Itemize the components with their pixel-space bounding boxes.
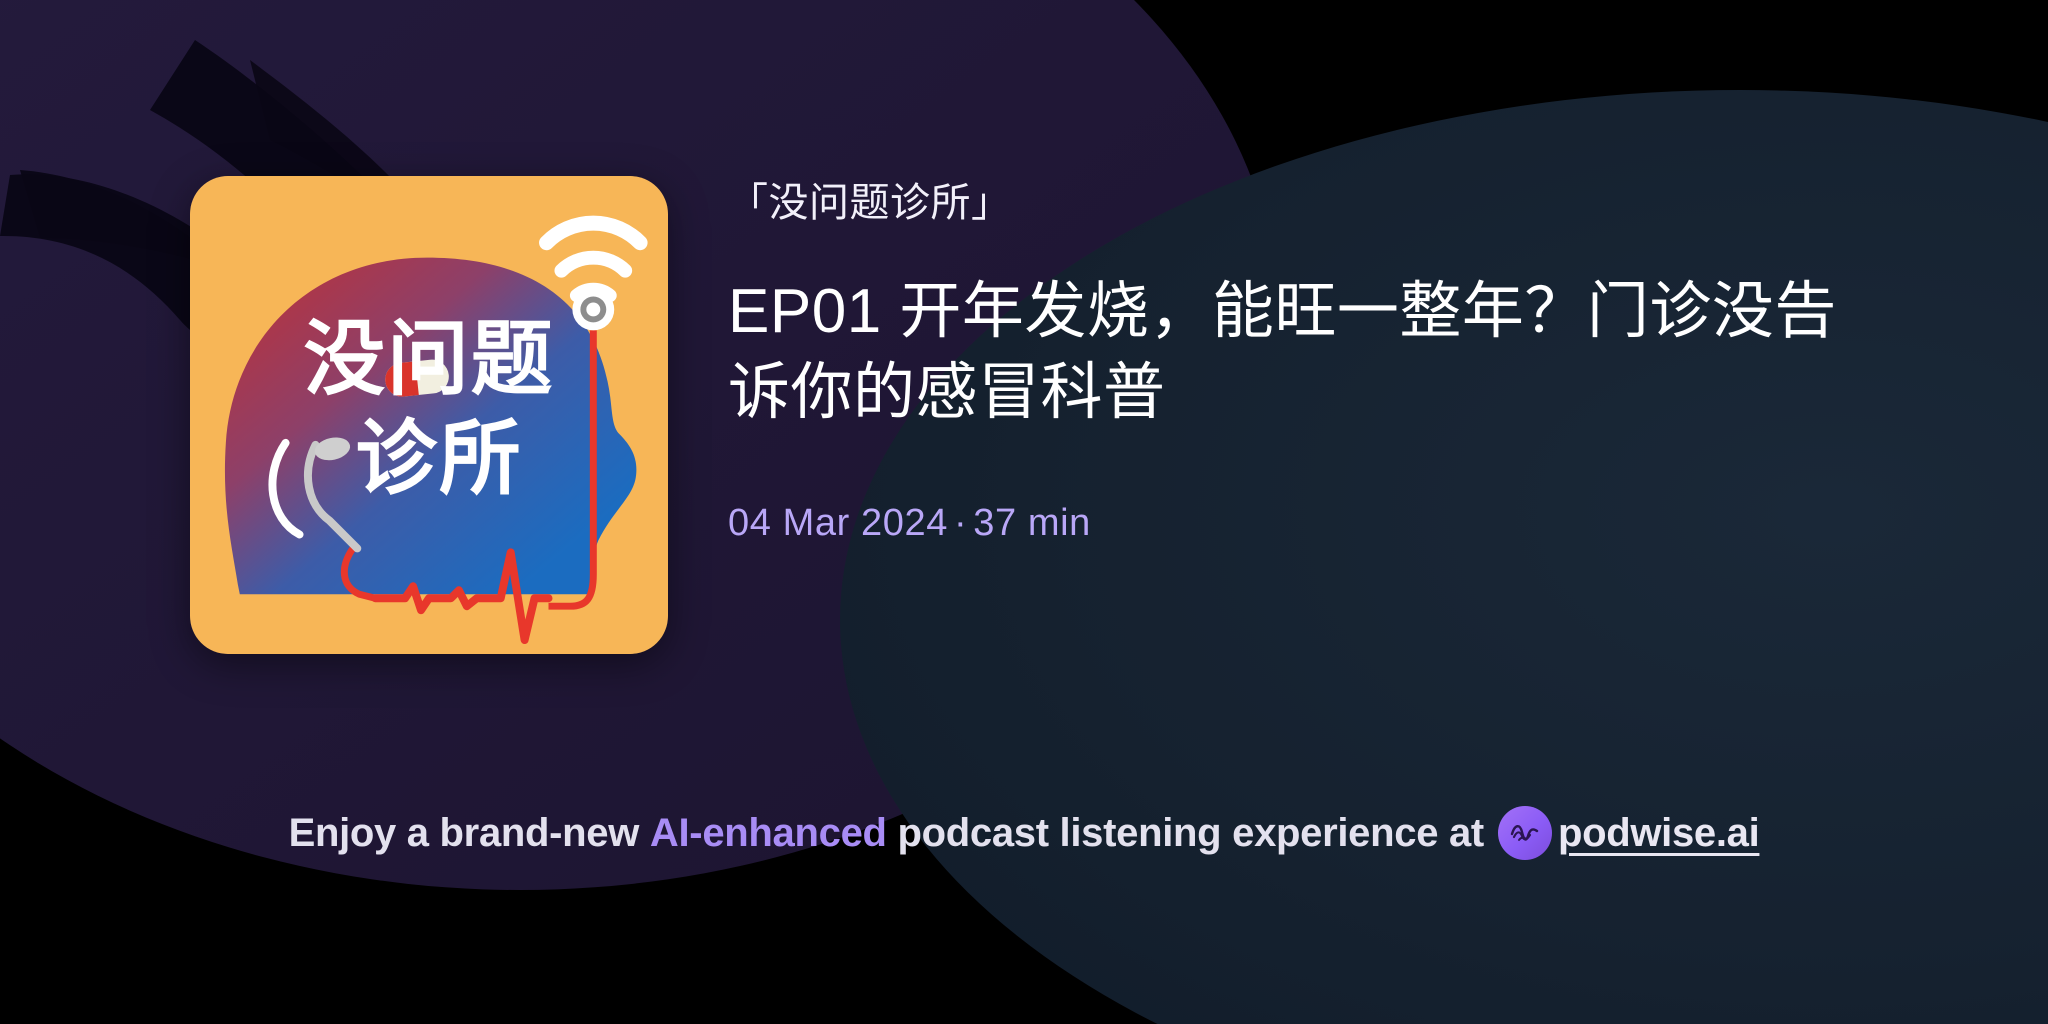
- podwise-logo-icon: [1498, 806, 1552, 860]
- episode-date: 04 Mar 2024: [728, 502, 948, 544]
- episode-info-block: 「没问题诊所」 EP01 开年发烧，能旺一整年？门诊没告诉你的感冒科普 04 M…: [728, 176, 1918, 547]
- meta-separator: ·: [948, 502, 973, 544]
- cover-art[interactable]: 没问题 诊所: [190, 176, 668, 654]
- signal-dot-inner: [586, 302, 600, 316]
- podwise-brand-link[interactable]: podwise.ai: [1498, 806, 1760, 860]
- footer-tagline: Enjoy a brand-new AI-enhanced podcast li…: [0, 806, 2048, 860]
- episode-title: EP01 开年发烧，能旺一整年？门诊没告诉你的感冒科普: [728, 230, 1848, 433]
- episode-share-card: 没问题 诊所 「没问题诊所」 EP01 开年发烧，能旺一整年？门诊没告诉你的感冒…: [0, 0, 2048, 1024]
- episode-duration: 37 min: [973, 502, 1091, 544]
- tagline-accent: AI-enhanced: [650, 811, 887, 856]
- podwise-domain-text[interactable]: podwise.ai: [1558, 811, 1760, 856]
- cover-art-svg: 没问题 诊所: [190, 176, 668, 654]
- tagline-after: podcast listening experience at: [897, 811, 1483, 856]
- cover-title-top: 没问题: [304, 314, 555, 405]
- episode-meta: 04 Mar 2024·37 min: [728, 433, 1918, 547]
- cover-title-bottom: 诊所: [355, 414, 522, 505]
- tagline-before: Enjoy a brand-new: [289, 811, 640, 856]
- podcast-name[interactable]: 「没问题诊所」: [728, 176, 1918, 230]
- podwise-wave-icon: [1507, 815, 1543, 851]
